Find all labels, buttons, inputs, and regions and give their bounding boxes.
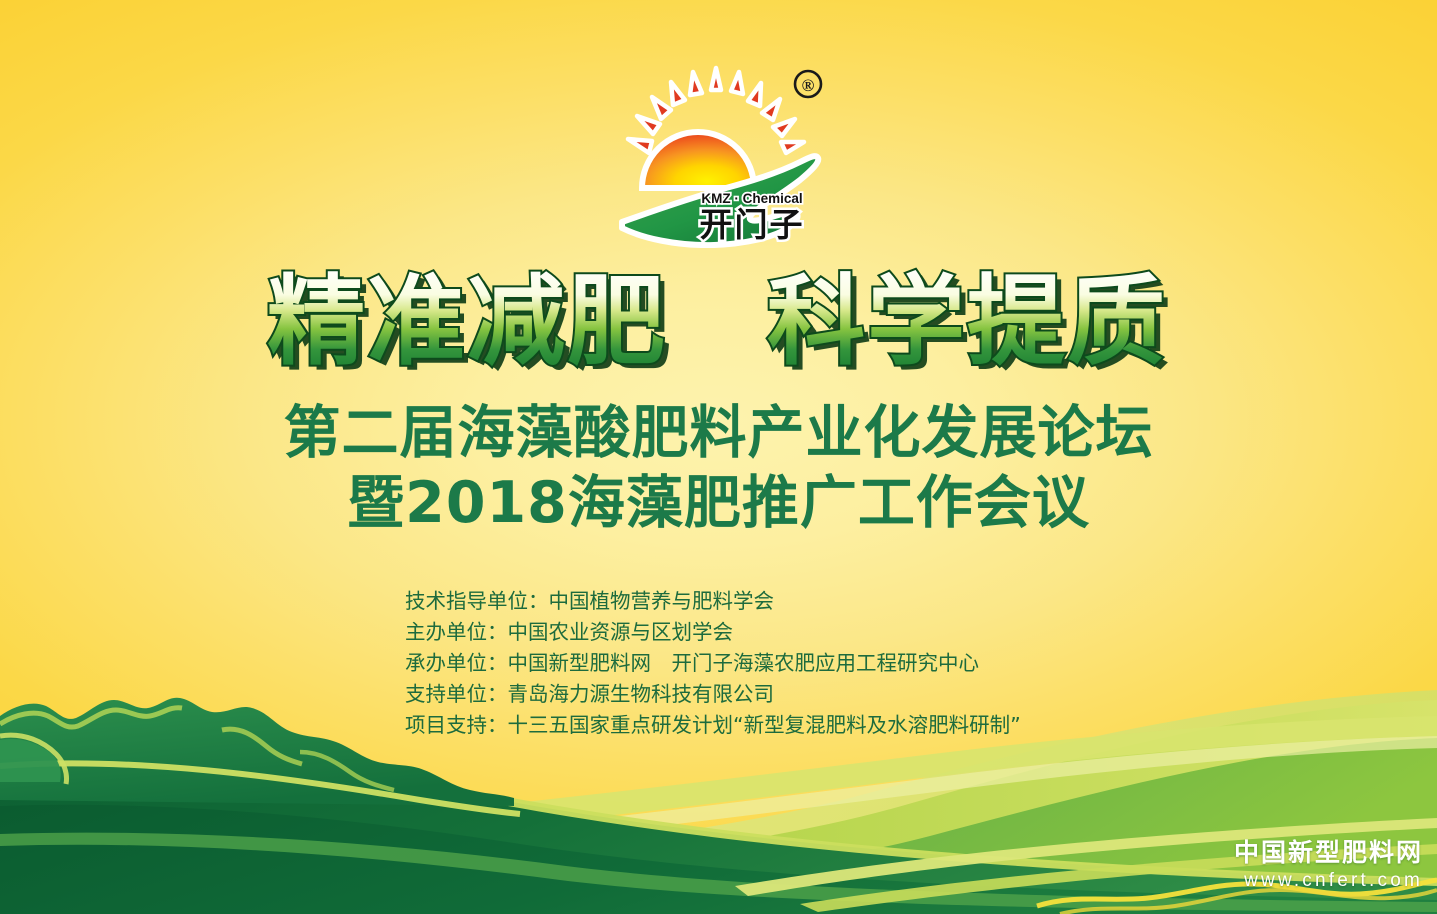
org-line-organizer: 承办单位：中国新型肥料网 开门子海藻农肥应用工程研究中心 (405, 648, 1225, 679)
org-line-technical-guidance: 技术指导单位：中国植物营养与肥料学会 (405, 586, 1225, 617)
headline-text: 精准减肥 科学提质 (266, 267, 1166, 379)
sunrise-icon (642, 132, 754, 188)
site-watermark: 中国新型肥料网 www.cnfert.com (1234, 840, 1423, 890)
subtitle-line-2: 暨2018海藻肥推广工作会议 (0, 474, 1437, 534)
event-poster: ® KMZ · Chemical 开门子 精准减肥 科学提质 (0, 0, 1437, 914)
kmz-chemical-logo: ® KMZ · Chemical 开门子 (604, 62, 834, 248)
org-line-supporter: 支持单位：青岛海力源生物科技有限公司 (405, 679, 1225, 710)
watermark-url: www.cnfert.com (1234, 871, 1423, 890)
organization-info-block: 技术指导单位：中国植物营养与肥料学会 主办单位：中国农业资源与区划学会 承办单位… (405, 586, 1225, 741)
subtitle-line-1: 第二届海藻酸肥料产业化发展论坛 (0, 404, 1437, 464)
subtitle-container: 第二届海藻酸肥料产业化发展论坛 暨2018海藻肥推广工作会议 (0, 404, 1437, 534)
registered-trademark-icon: ® (795, 71, 821, 97)
watermark-site-name: 中国新型肥料网 (1234, 840, 1423, 865)
headline-container: 精准减肥 科学提质 精准减肥 科学提质 (0, 268, 1437, 386)
org-line-project-support: 项目支持：十三五国家重点研发计划“新型复混肥料及水溶肥料研制” (405, 710, 1225, 741)
main-headline: 精准减肥 科学提质 精准减肥 科学提质 (189, 267, 1249, 387)
logo-latin-name: KMZ · Chemical (701, 191, 802, 206)
logo-container: ® KMZ · Chemical 开门子 (0, 62, 1437, 252)
org-line-host: 主办单位：中国农业资源与区划学会 (405, 617, 1225, 648)
logo-chinese-name: 开门子 (699, 205, 804, 244)
registered-mark-glyph: ® (801, 76, 814, 95)
